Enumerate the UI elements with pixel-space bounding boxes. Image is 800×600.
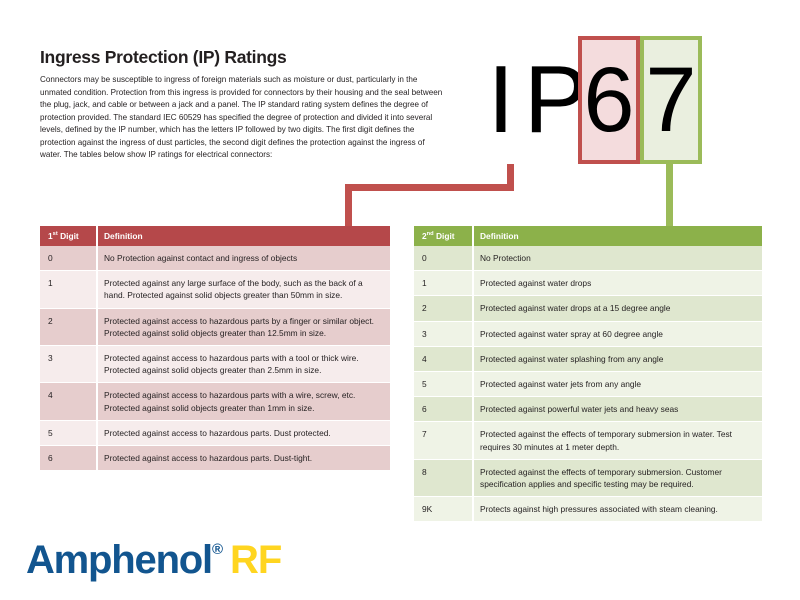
table-row: 0No Protection <box>414 246 762 271</box>
cell-digit: 7 <box>414 422 472 459</box>
cell-digit: 2 <box>414 296 472 321</box>
cell-definition: No Protection <box>472 246 762 271</box>
cell-definition: Protected against any large surface of t… <box>96 271 390 308</box>
table-row: 2Protected against water drops at a 15 d… <box>414 296 762 321</box>
connector-green-vertical <box>666 164 673 229</box>
ip-spacer <box>570 36 578 164</box>
cell-definition: Protected against access to hazardous pa… <box>96 445 390 470</box>
page-title: Ingress Protection (IP) Ratings <box>40 48 448 67</box>
cell-digit: 6 <box>414 397 472 422</box>
cell-definition: Protected against water splashing from a… <box>472 346 762 371</box>
header-definition: Definition <box>472 226 762 246</box>
table-row: 4Protected against water splashing from … <box>414 346 762 371</box>
cell-digit: 4 <box>414 346 472 371</box>
cell-definition: Protects against high pressures associat… <box>472 497 762 522</box>
cell-digit: 0 <box>414 246 472 271</box>
table-row: 8Protected against the effects of tempor… <box>414 459 762 496</box>
ip-first-digit-box: 6 <box>578 36 640 164</box>
cell-definition: Protected against access to hazardous pa… <box>96 383 390 420</box>
cell-digit: 5 <box>414 371 472 396</box>
table-row: 5Protected against access to hazardous p… <box>40 420 390 445</box>
ip-first-digit: 6 <box>582 40 636 160</box>
amphenol-rf-logo: Amphenol ® RF <box>26 540 281 580</box>
table-row: 1Protected against any large surface of … <box>40 271 390 308</box>
ip-second-digit: 7 <box>644 40 698 160</box>
intro-block: Ingress Protection (IP) Ratings Connecto… <box>40 48 448 162</box>
logo-brand-text: Amphenol <box>26 540 212 580</box>
cell-digit: 1 <box>414 271 472 296</box>
cell-digit: 2 <box>40 308 96 345</box>
cell-definition: Protected against powerful water jets an… <box>472 397 762 422</box>
table-row: 6Protected against powerful water jets a… <box>414 397 762 422</box>
ip-rating-badge: I P 6 7 <box>478 36 702 164</box>
table-row: 9KProtects against high pressures associ… <box>414 497 762 522</box>
connector-red-horizontal <box>345 184 514 191</box>
cell-definition: No Protection against contact and ingres… <box>96 246 390 271</box>
cell-definition: Protected against access to hazardous pa… <box>96 308 390 345</box>
table-row: 5Protected against water jets from any a… <box>414 371 762 396</box>
cell-digit: 3 <box>40 345 96 382</box>
cell-definition: Protected against the effects of tempora… <box>472 422 762 459</box>
registered-trademark-icon: ® <box>212 542 223 557</box>
cell-definition: Protected against water drops <box>472 271 762 296</box>
first-digit-table-body: 0No Protection against contact and ingre… <box>40 246 390 471</box>
second-digit-table-body: 0No Protection1Protected against water d… <box>414 246 762 522</box>
cell-definition: Protected against water jets from any an… <box>472 371 762 396</box>
cell-definition: Protected against water spray at 60 degr… <box>472 321 762 346</box>
cell-digit: 9K <box>414 497 472 522</box>
cell-digit: 3 <box>414 321 472 346</box>
ip-letter-i: I <box>478 36 524 164</box>
cell-definition: Protected against water drops at a 15 de… <box>472 296 762 321</box>
cell-digit: 1 <box>40 271 96 308</box>
cell-digit: 5 <box>40 420 96 445</box>
table-row: 1Protected against water drops <box>414 271 762 296</box>
header-second-digit: 2nd Digit <box>414 226 472 246</box>
ip-second-digit-box: 7 <box>640 36 702 164</box>
table-row: 6Protected against access to hazardous p… <box>40 445 390 470</box>
header-definition: Definition <box>96 226 390 246</box>
table-row: 2Protected against access to hazardous p… <box>40 308 390 345</box>
header-first-digit: 1st Digit <box>40 226 96 246</box>
cell-definition: Protected against access to hazardous pa… <box>96 420 390 445</box>
table-row: 3Protected against access to hazardous p… <box>40 345 390 382</box>
cell-definition: Protected against access to hazardous pa… <box>96 345 390 382</box>
second-digit-table: 2nd Digit Definition 0No Protection1Prot… <box>414 226 762 522</box>
ip-letter-p: P <box>524 36 570 164</box>
table-row: 4Protected against access to hazardous p… <box>40 383 390 420</box>
cell-digit: 0 <box>40 246 96 271</box>
cell-definition: Protected against the effects of tempora… <box>472 459 762 496</box>
logo-suffix-text: RF <box>230 540 281 580</box>
cell-digit: 8 <box>414 459 472 496</box>
table-row: 3Protected against water spray at 60 deg… <box>414 321 762 346</box>
table-header-row: 2nd Digit Definition <box>414 226 762 246</box>
connector-red-vertical-lower <box>345 184 352 229</box>
first-digit-table: 1st Digit Definition 0No Protection agai… <box>40 226 390 471</box>
cell-digit: 6 <box>40 445 96 470</box>
cell-digit: 4 <box>40 383 96 420</box>
intro-paragraph: Connectors may be susceptible to ingress… <box>40 74 448 162</box>
table-row: 7Protected against the effects of tempor… <box>414 422 762 459</box>
infographic-page: Ingress Protection (IP) Ratings Connecto… <box>0 0 800 600</box>
table-row: 0No Protection against contact and ingre… <box>40 246 390 271</box>
table-header-row: 1st Digit Definition <box>40 226 390 246</box>
